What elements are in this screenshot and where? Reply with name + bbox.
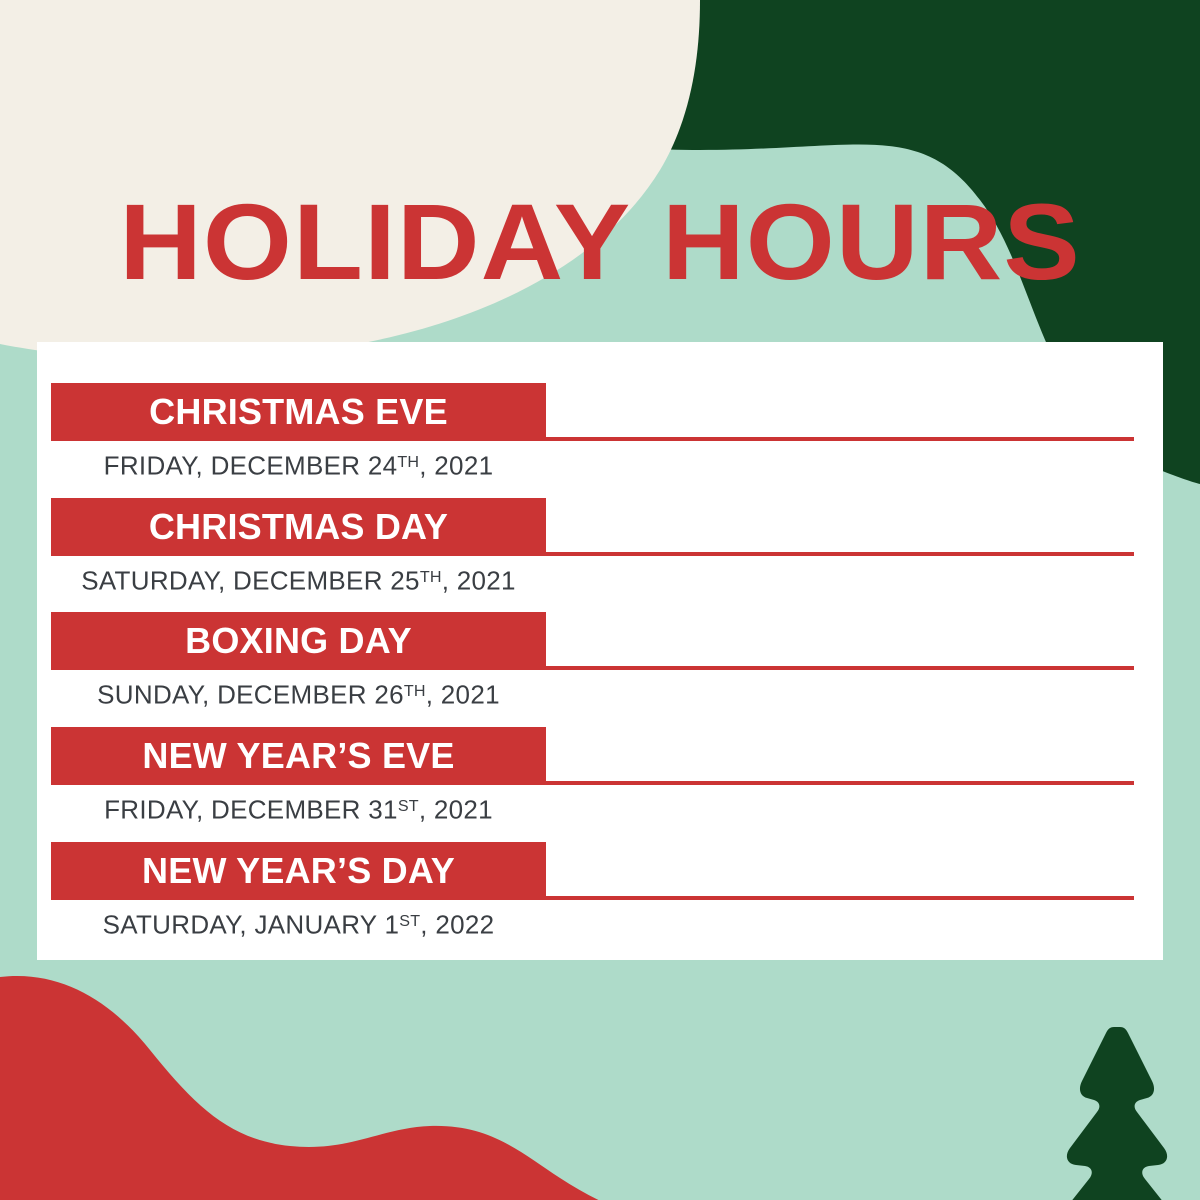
holiday-date-weekday: FRIDAY, DECEMBER 31	[104, 795, 398, 825]
holiday-date: FRIDAY, DECEMBER 31ST, 2021	[51, 789, 546, 827]
holiday-date-ordinal: ST	[399, 912, 420, 930]
holiday-row: CHRISTMAS DAY SATURDAY, DECEMBER 25TH, 2…	[51, 498, 1149, 613]
holiday-date-weekday: FRIDAY, DECEMBER 24	[104, 451, 398, 481]
holiday-date-ordinal: TH	[404, 682, 426, 700]
holiday-name-banner: CHRISTMAS DAY	[51, 498, 546, 556]
holiday-date-ordinal: ST	[398, 797, 419, 815]
holiday-date-year: , 2021	[419, 451, 493, 481]
holiday-date-year: , 2021	[426, 680, 500, 710]
holiday-row: NEW YEAR’S DAY SATURDAY, JANUARY 1ST, 20…	[51, 842, 1149, 957]
holiday-name: NEW YEAR’S DAY	[132, 853, 465, 889]
hours-entry-line	[546, 666, 1134, 670]
holiday-name-banner: NEW YEAR’S EVE	[51, 727, 546, 785]
holiday-date-weekday: SUNDAY, DECEMBER 26	[97, 680, 404, 710]
hours-entry-line	[546, 552, 1134, 556]
hours-entry-line	[546, 896, 1134, 900]
holiday-date-weekday: SATURDAY, JANUARY 1	[103, 910, 400, 940]
holiday-date-weekday: SATURDAY, DECEMBER 25	[81, 566, 420, 596]
holiday-row: CHRISTMAS EVE FRIDAY, DECEMBER 24TH, 202…	[51, 383, 1149, 498]
holiday-date-ordinal: TH	[397, 453, 419, 471]
holiday-date-year: , 2022	[420, 910, 494, 940]
holiday-hours-card: CHRISTMAS EVE FRIDAY, DECEMBER 24TH, 202…	[37, 342, 1163, 960]
holiday-name: NEW YEAR’S EVE	[132, 738, 464, 774]
holiday-date: FRIDAY, DECEMBER 24TH, 2021	[51, 445, 546, 483]
holiday-hours-poster: HOLIDAY HOURS CHRISTMAS EVE FRIDAY, DECE…	[0, 0, 1200, 1200]
hours-entry-line	[546, 781, 1134, 785]
holiday-name-banner: CHRISTMAS EVE	[51, 383, 546, 441]
holiday-row: BOXING DAY SUNDAY, DECEMBER 26TH, 2021	[51, 612, 1149, 727]
holiday-name: BOXING DAY	[175, 623, 422, 659]
holiday-date: SUNDAY, DECEMBER 26TH, 2021	[51, 674, 546, 712]
holiday-date-year: , 2021	[419, 795, 493, 825]
holiday-list: CHRISTMAS EVE FRIDAY, DECEMBER 24TH, 202…	[37, 342, 1163, 960]
holiday-date-ordinal: TH	[420, 568, 442, 586]
holiday-row: NEW YEAR’S EVE FRIDAY, DECEMBER 31ST, 20…	[51, 727, 1149, 842]
holiday-name: CHRISTMAS DAY	[139, 509, 458, 545]
holiday-name: CHRISTMAS EVE	[139, 394, 458, 430]
holiday-name-banner: NEW YEAR’S DAY	[51, 842, 546, 900]
hours-entry-line	[546, 437, 1134, 441]
page-title: HOLIDAY HOURS	[0, 186, 1200, 298]
holiday-name-banner: BOXING DAY	[51, 612, 546, 670]
holiday-date: SATURDAY, JANUARY 1ST, 2022	[51, 904, 546, 942]
holiday-date-year: , 2021	[442, 566, 516, 596]
holiday-date: SATURDAY, DECEMBER 25TH, 2021	[51, 560, 546, 598]
